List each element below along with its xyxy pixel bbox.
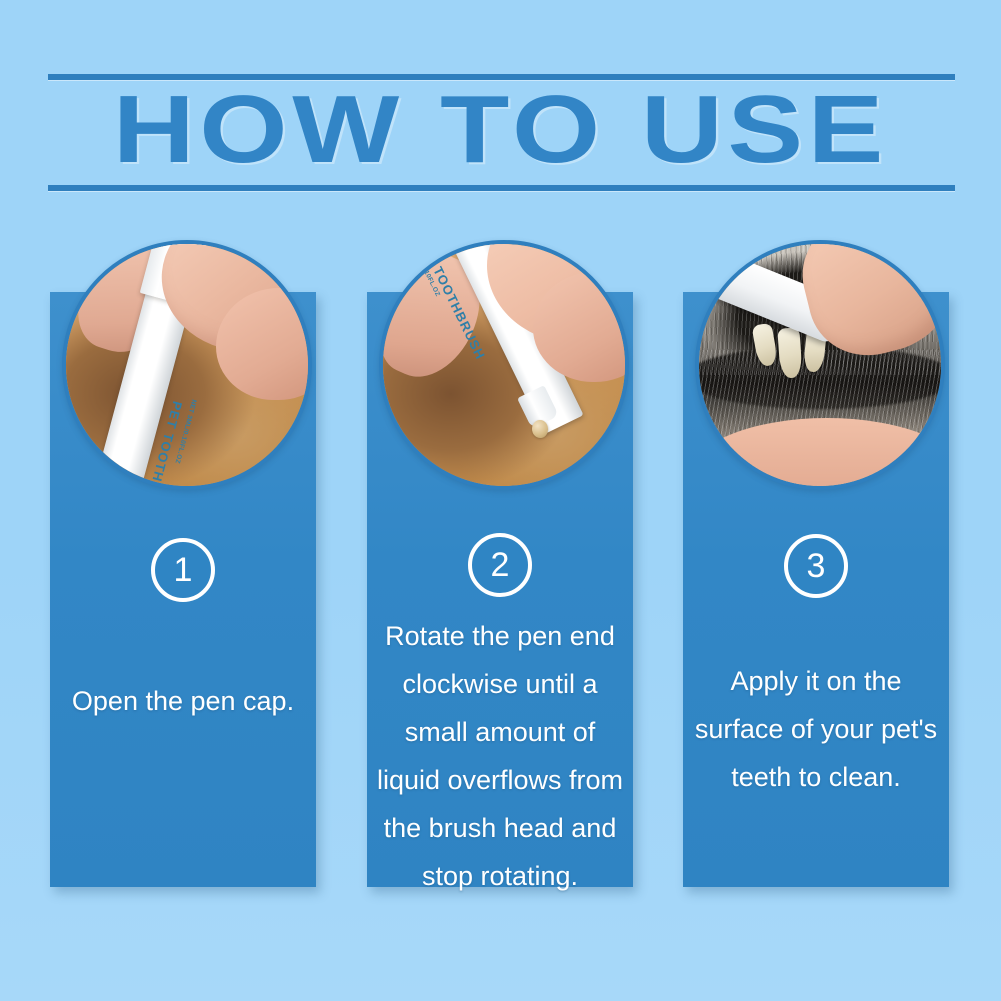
page-title: HOW TO USE bbox=[0, 80, 1001, 180]
step-1-photo: PET TOOTHBRUSH NET 3ML/0.10FL.OZ bbox=[62, 240, 312, 490]
step-1-photo-art: PET TOOTHBRUSH NET 3ML/0.10FL.OZ bbox=[66, 244, 308, 486]
header: HOW TO USE bbox=[0, 0, 1001, 250]
step-number-badge-1: 1 bbox=[151, 538, 215, 602]
step-2-photo: TOOTHBRUSH 0.10FL.OZ bbox=[379, 240, 629, 490]
step-caption-3: Apply it on the surface of your pet's te… bbox=[691, 657, 941, 801]
steps-container: PET TOOTHBRUSH NET 3ML/0.10FL.OZ 1 Open … bbox=[0, 250, 1001, 950]
step-3-photo bbox=[695, 240, 945, 490]
header-rule-bottom bbox=[48, 185, 955, 191]
step-number-badge-2: 2 bbox=[468, 533, 532, 597]
step-3-photo-art bbox=[699, 244, 941, 486]
step-card-1: PET TOOTHBRUSH NET 3ML/0.10FL.OZ 1 Open … bbox=[50, 292, 316, 887]
how-to-use-infographic: HOW TO USE PET TOOTHBRUSH NET 3ML/0.10FL… bbox=[0, 0, 1001, 1001]
step-number-badge-3: 3 bbox=[784, 534, 848, 598]
liquid-drop bbox=[532, 420, 548, 438]
step-card-2: TOOTHBRUSH 0.10FL.OZ 2 Rotate the pen en… bbox=[367, 292, 633, 887]
step-caption-1: Open the pen cap. bbox=[58, 677, 308, 725]
step-caption-2: Rotate the pen end clockwise until a sma… bbox=[375, 612, 625, 900]
step-card-3: 3 Apply it on the surface of your pet's … bbox=[683, 292, 949, 887]
step-2-photo-art: TOOTHBRUSH 0.10FL.OZ bbox=[383, 244, 625, 486]
